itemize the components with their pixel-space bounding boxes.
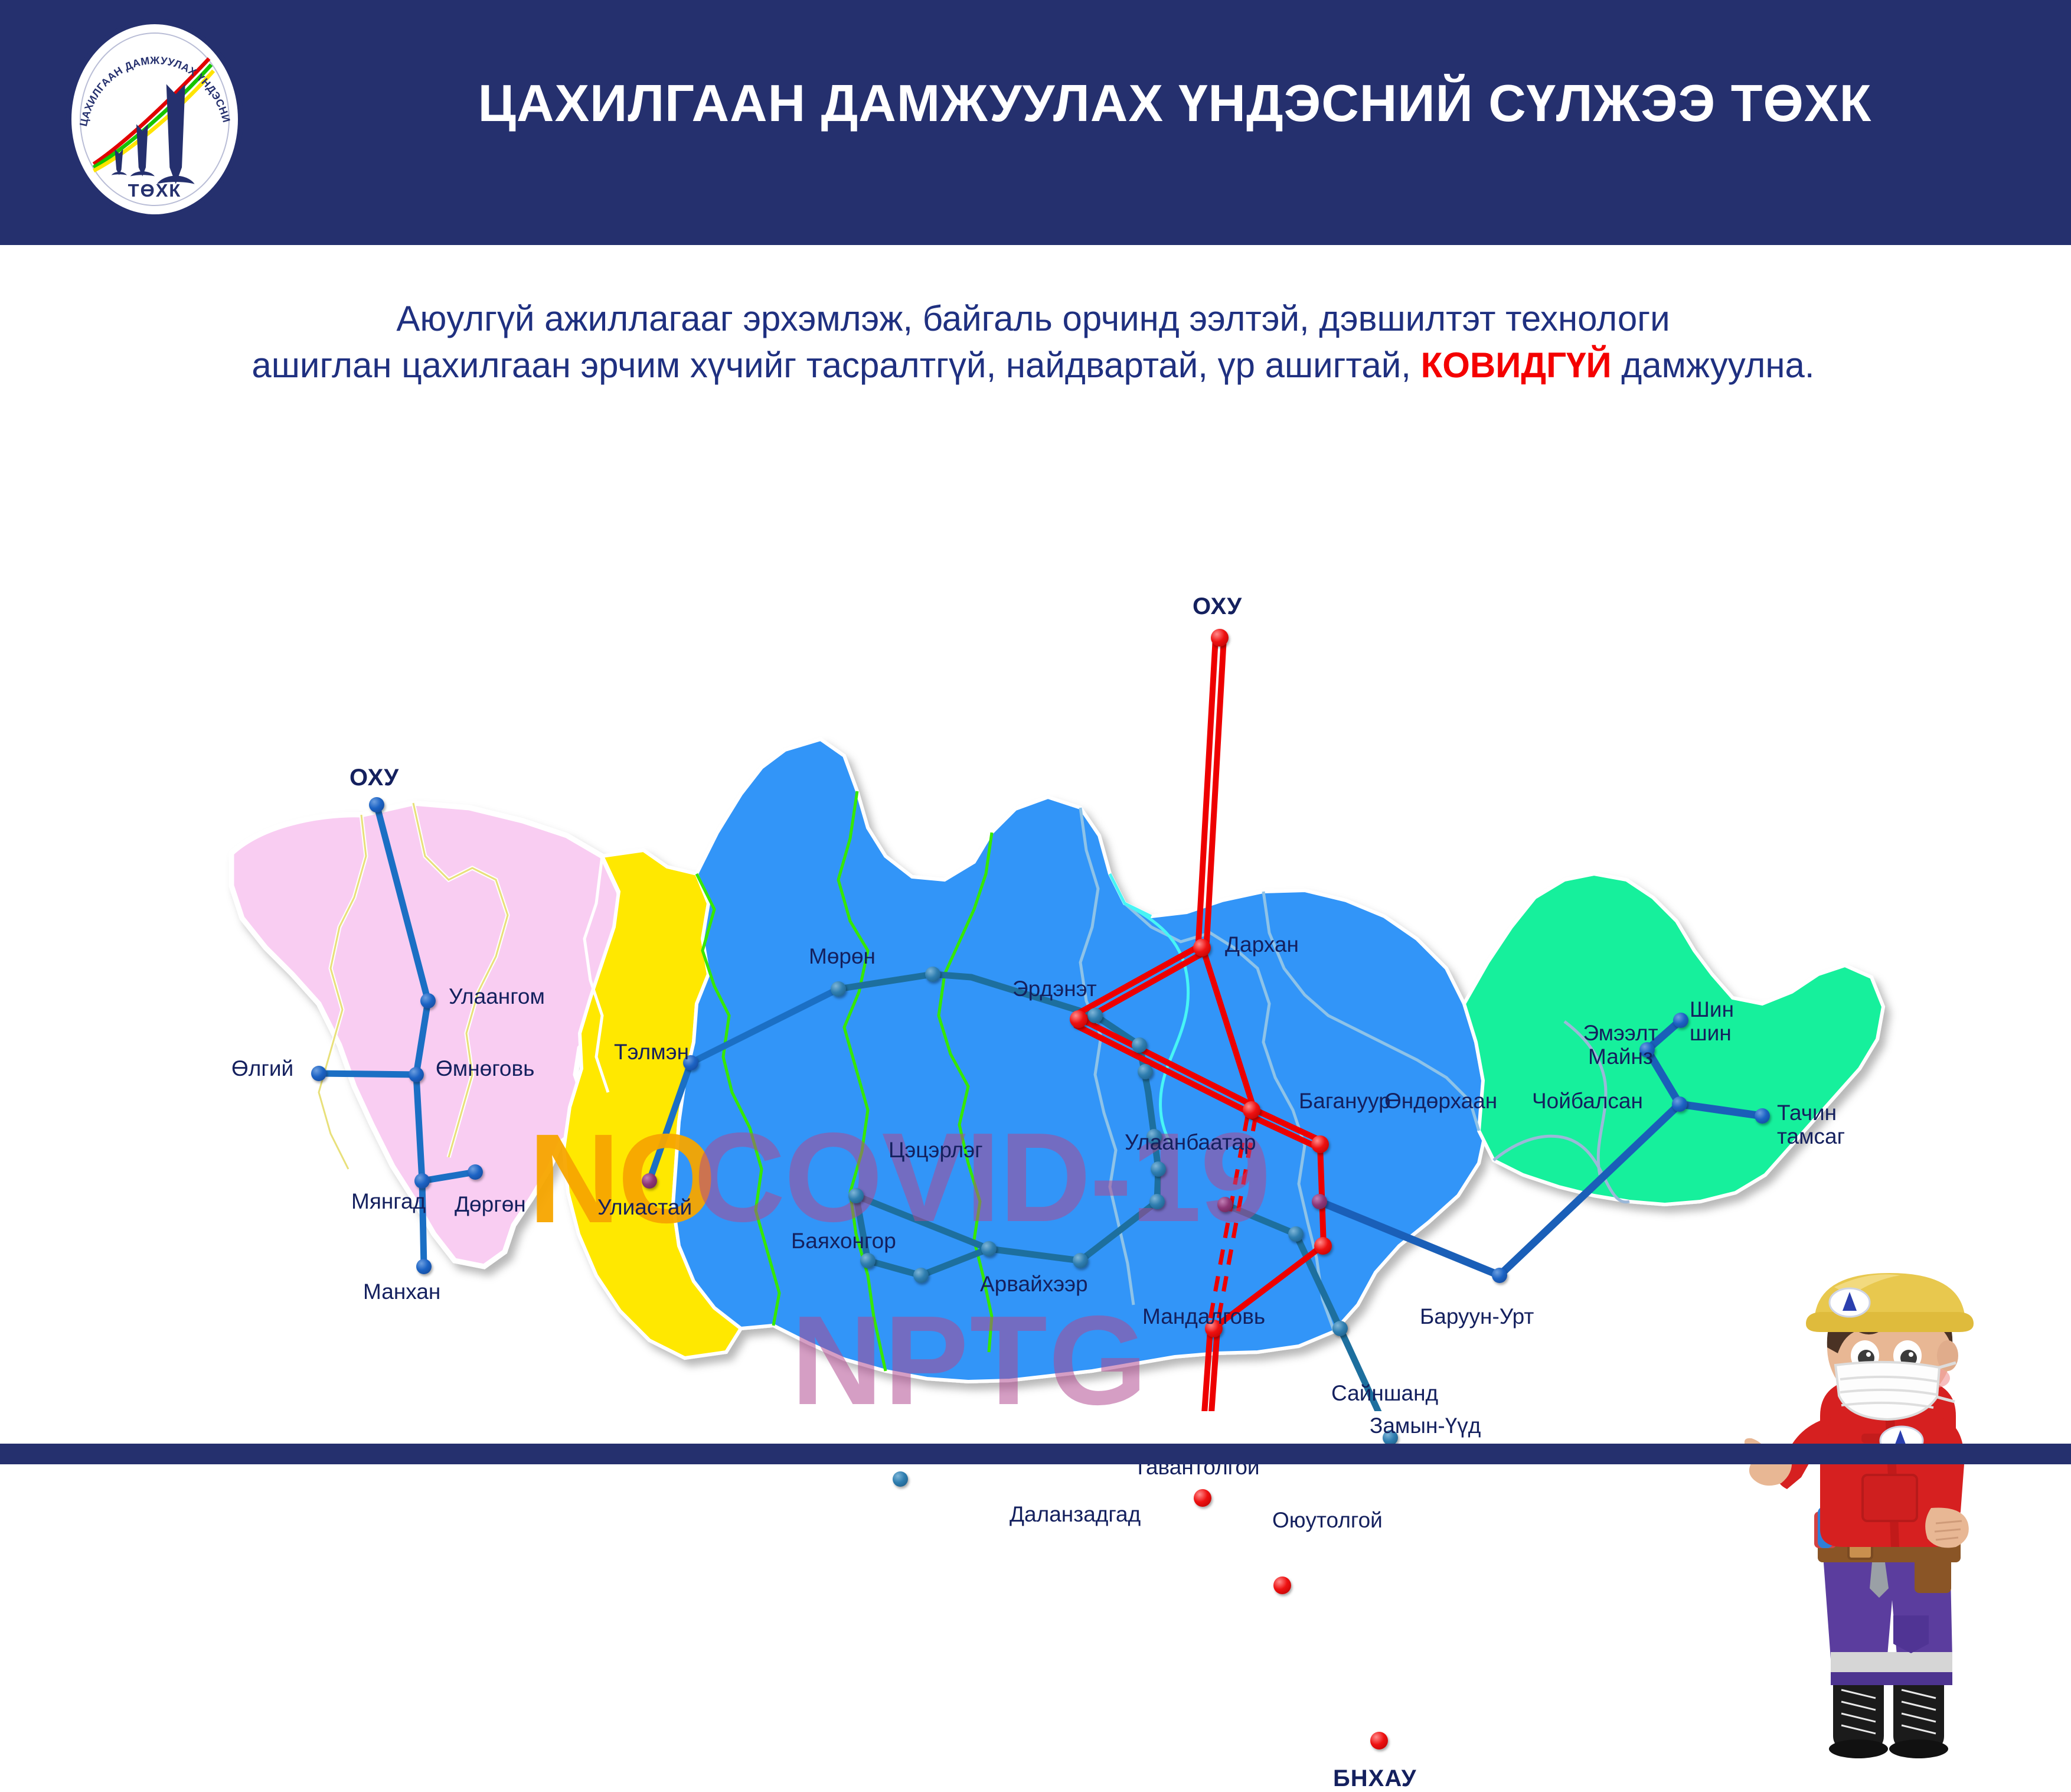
city-label-ulaangom: Улаангом	[449, 985, 545, 1008]
node-ulaangom[interactable]	[420, 993, 436, 1008]
mission-line-2-before: ашиглан цахилгаан эрчим хүчийг тасралтгү…	[251, 345, 1420, 385]
node-choir-tap[interactable]	[1288, 1226, 1304, 1242]
city-label-bayankhongor: Баяхонгор	[791, 1229, 896, 1253]
node-bayankhongor-tap[interactable]	[913, 1268, 929, 1283]
node-ulaanbaatar[interactable]	[1243, 1101, 1260, 1119]
mongolia-transmission-map: NO COVID-19 NPTG ОХУ ОХУ БНХАУ У	[0, 407, 2071, 1411]
city-label-erdenet: Эрдэнэт	[1012, 977, 1097, 1001]
mission-statement: Аюулгүй ажиллагааг эрхэмлэж, байгаль орч…	[177, 295, 1889, 389]
node-mankhan[interactable]	[416, 1259, 432, 1274]
node-erdenet-tap[interactable]	[1087, 1008, 1103, 1023]
city-label-telmen: Тэлмэн	[614, 1040, 689, 1064]
city-label-sainshand: Сайншанд	[1331, 1382, 1438, 1405]
mascot-boots	[1829, 1683, 1948, 1758]
page-header: ЦАХИЛГААН ДАМЖУУЛАХ ҮНДЭСНИЙ СҮЛЖЭЭ ТӨХК…	[0, 0, 2071, 245]
logo-bottom-label: ТӨХК	[71, 180, 238, 201]
node-tachin-tamsag[interactable]	[1755, 1108, 1770, 1124]
city-label-oyutolgoi: Оюутолгой	[1272, 1509, 1383, 1532]
node-uliastai[interactable]	[642, 1173, 657, 1189]
node-oyutolgoi[interactable]	[1273, 1576, 1291, 1594]
node-tov-tap[interactable]	[1151, 1161, 1166, 1177]
node-moron[interactable]	[831, 981, 846, 997]
node-arvaikheer[interactable]	[981, 1241, 997, 1256]
node-tavantolgoi[interactable]	[1194, 1489, 1211, 1507]
node-ondorkhaan-east[interactable]	[1312, 1194, 1327, 1209]
region-west-pink	[231, 803, 626, 1267]
city-label-ulaanbaatar: Улаанбаатар	[1125, 1131, 1256, 1154]
node-shin-shin[interactable]	[1673, 1013, 1688, 1028]
city-label-mankhan: Манхан	[363, 1280, 440, 1304]
node-bayankhongor[interactable]	[860, 1253, 876, 1268]
node-choir[interactable]	[1314, 1237, 1332, 1255]
city-label-uliastai: Улиастай	[597, 1196, 692, 1219]
city-label-omnogovi: Өмнөговь	[436, 1057, 534, 1081]
mission-covid-free-highlight: КОВИДГҮЙ	[1421, 345, 1612, 385]
node-ondorkhaan[interactable]	[1217, 1197, 1233, 1212]
city-label-moron: Мөрөн	[809, 945, 876, 968]
node-okhu-west-tap[interactable]	[369, 797, 384, 812]
svg-text:ЦАХИЛГААН ДАМЖУУЛАХ ҮНДЭСНИЙ С: ЦАХИЛГААН ДАМЖУУЛАХ ҮНДЭСНИЙ СҮЛЖЭЭ	[71, 24, 233, 128]
safety-worker-mascot	[1745, 1269, 2028, 1765]
node-darkhan-tap[interactable]	[1138, 1064, 1153, 1079]
node-central-tap[interactable]	[1149, 1194, 1165, 1209]
node-dalanzadgad[interactable]	[893, 1471, 908, 1487]
border-label-okhu-north: ОХУ	[1193, 593, 1242, 620]
mission-line-2: ашиглан цахилгаан эрчим хүчийг тасралтгү…	[177, 342, 1889, 389]
mission-line-2-after: дамжуулна.	[1612, 345, 1815, 385]
city-label-choibalsan: Чойбалсан	[1532, 1089, 1643, 1113]
node-bnkhau-tap[interactable]	[1370, 1732, 1388, 1749]
city-label-mandalgovi: Мандалговь	[1142, 1305, 1265, 1329]
node-omnogovi[interactable]	[409, 1067, 424, 1082]
node-okhu-north-tap[interactable]	[1211, 629, 1229, 647]
node-dorgon[interactable]	[468, 1164, 483, 1180]
node-ulgii[interactable]	[311, 1066, 326, 1081]
city-label-tachin-tamsag: Тачин тамсаг	[1777, 1101, 1877, 1148]
map-graphic	[0, 407, 2071, 1411]
city-label-ondorkhaan: Өндөрхаан	[1384, 1089, 1497, 1113]
node-sainshand[interactable]	[1332, 1321, 1348, 1336]
node-baganuur[interactable]	[1311, 1135, 1329, 1153]
region-east-green	[1464, 874, 1883, 1205]
page-footer	[0, 1444, 2071, 1464]
city-label-dalanzadgad: Даланзадгад	[1010, 1503, 1141, 1526]
node-erdenet[interactable]	[1070, 1010, 1087, 1028]
city-label-arvaikheer: Арвайхээр	[980, 1272, 1088, 1296]
mascot-hard-hat	[1806, 1273, 1974, 1332]
city-label-baganuur: Багануур	[1299, 1089, 1391, 1113]
node-selenge-tap[interactable]	[1132, 1037, 1147, 1053]
city-label-tsetserleg: Цэцэрлэг	[888, 1138, 983, 1162]
city-label-dorgon: Дөргөн	[455, 1193, 526, 1216]
mission-line-1: Аюулгүй ажиллагааг эрхэмлэж, байгаль орч…	[177, 295, 1889, 342]
page-title: ЦАХИЛГААН ДАМЖУУЛАХ ҮНДЭСНИЙ СҮЛЖЭЭ ТӨХК	[354, 73, 1995, 133]
node-moron-tap[interactable]	[925, 967, 940, 982]
border-label-bnkhau: БНХАУ	[1333, 1765, 1417, 1792]
logo-oval: ЦАХИЛГААН ДАМЖУУЛАХ ҮНДЭСНИЙ СҮЛЖЭЭ ТӨХК	[66, 19, 243, 220]
city-label-myangad: Мянгад	[351, 1190, 426, 1213]
city-label-emeelt-mainz: Эмээлт Майнз	[1567, 1021, 1674, 1069]
node-baruun-urt[interactable]	[1492, 1268, 1507, 1283]
node-tsetserleg[interactable]	[848, 1188, 864, 1203]
company-logo: ЦАХИЛГААН ДАМЖУУЛАХ ҮНДЭСНИЙ СҮЛЖЭЭ ТӨХК	[66, 19, 243, 220]
city-label-shin-shin: Шин шин	[1690, 998, 1760, 1045]
node-arvaikheer-tap[interactable]	[1073, 1253, 1088, 1268]
city-label-zamyn-uud: Замын-Үүд	[1370, 1414, 1481, 1438]
city-label-baruun-urt: Баруун-Урт	[1420, 1305, 1534, 1329]
node-choibalsan[interactable]	[1672, 1096, 1687, 1112]
city-label-darkhan: Дархан	[1225, 933, 1299, 957]
logo-arc-label: ЦАХИЛГААН ДАМЖУУЛАХ ҮНДЭСНИЙ СҮЛЖЭЭ	[71, 24, 233, 128]
border-label-okhu-west: ОХУ	[349, 765, 399, 791]
node-darkhan[interactable]	[1193, 939, 1211, 957]
city-label-ulgii: Өлгий	[231, 1057, 293, 1081]
node-myangad[interactable]	[414, 1173, 430, 1189]
